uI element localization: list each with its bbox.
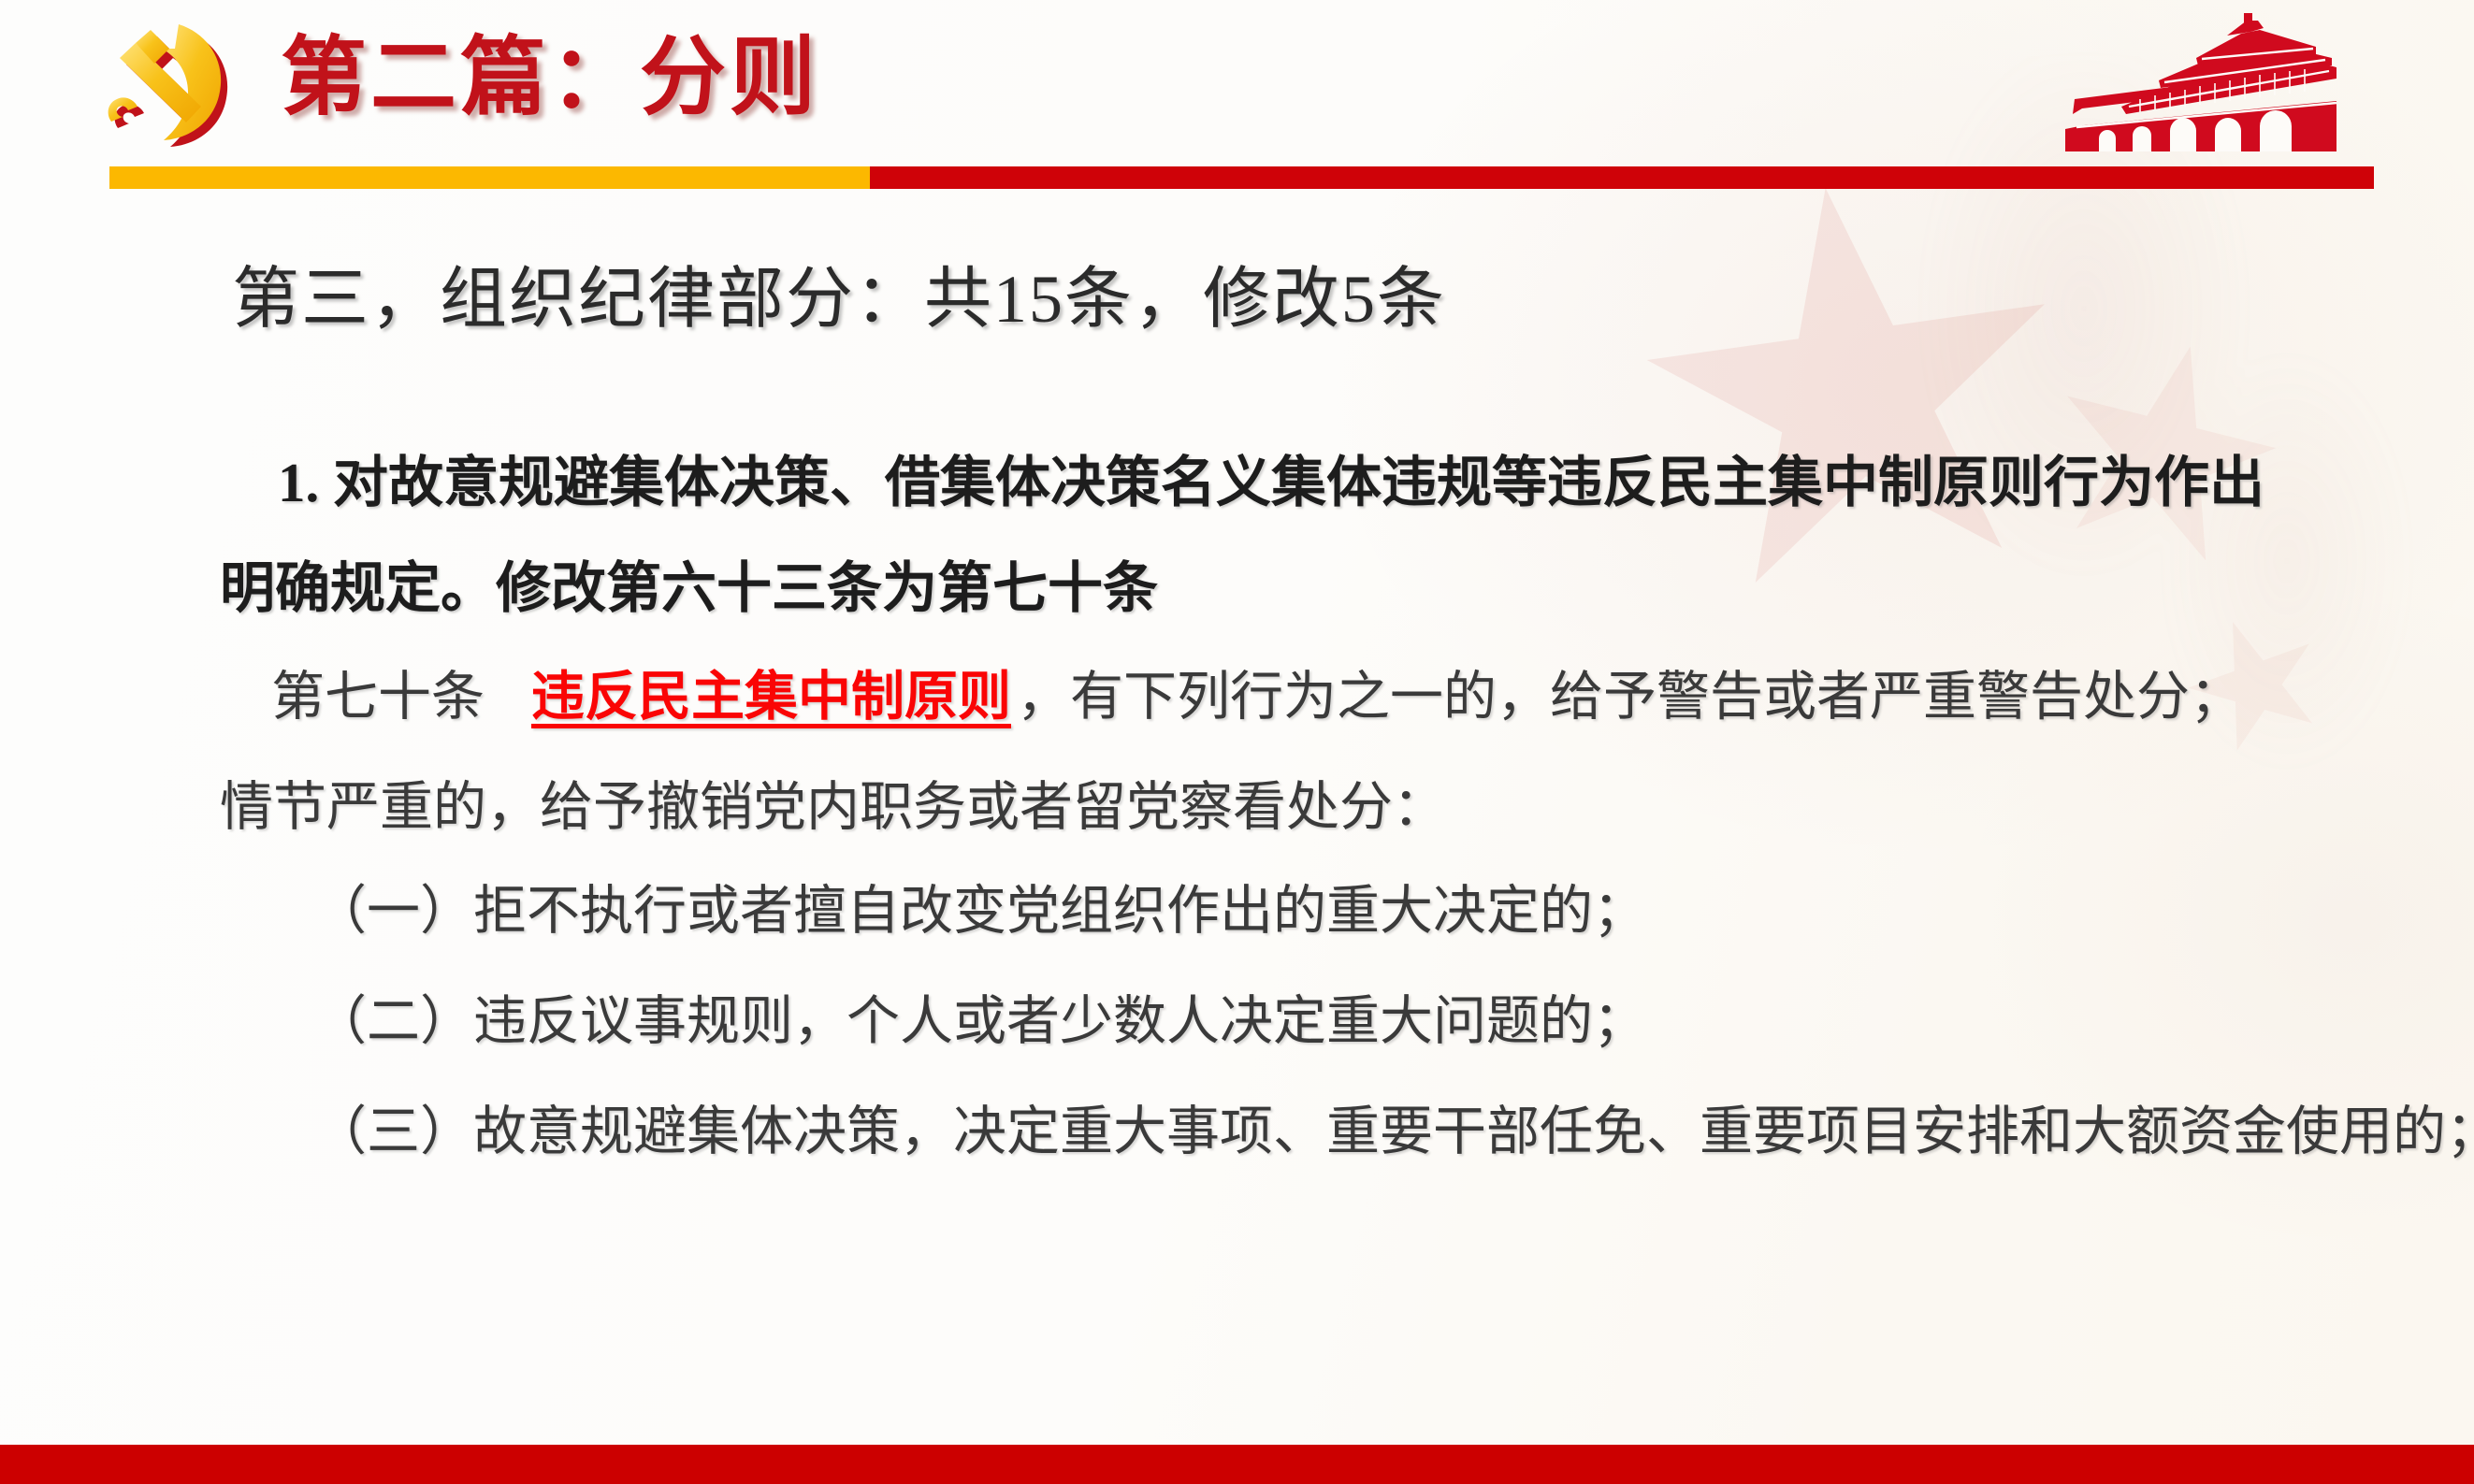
party-emblem-icon: [89, 17, 239, 148]
slide-header: 第二篇：分则: [0, 0, 2474, 201]
paragraph-item-1: 1. 对故意规避集体决策、借集体决策名义集体违规等违反民主集中制原则行为作出明确…: [220, 430, 2278, 641]
clause-list: （一）拒不执行或者擅自改变党组织作出的重大决定的； （二）违反议事规则，个人或者…: [220, 856, 2334, 1187]
article-paragraph: 第七十条违反民主集中制原则，有下列行为之一的，给予警告或者严重警告处分；情节严重…: [220, 641, 2278, 862]
footer-bar: [0, 1445, 2474, 1484]
tiananmen-gate-icon: [2028, 9, 2374, 173]
article-highlight-text: 违反民主集中制原则: [526, 667, 1017, 727]
article-label: 第七十条: [271, 667, 485, 727]
divider-red-segment: [870, 166, 2374, 189]
section-heading: 第三，组织纪律部分：共15条，修改5条: [232, 243, 1446, 341]
header-divider: [109, 166, 2374, 189]
list-item: （一）拒不执行或者擅自改变党组织作出的重大决定的；: [220, 856, 2334, 966]
divider-gold-segment: [109, 166, 870, 189]
slide-title: 第二篇：分则: [281, 7, 819, 132]
article-rest-text: ，有下列行为之一的，给予警告或者严重警告处分；情节严重的，给予撤销党内职务或者留…: [220, 667, 2243, 837]
paragraph-block: 1. 对故意规避集体决策、借集体决策名义集体违规等违反民主集中制原则行为作出明确…: [220, 430, 2278, 862]
slide-canvas: ★ ★ ★: [0, 0, 2474, 1484]
list-item: （二）违反议事规则，个人或者少数人决定重大问题的；: [220, 966, 2334, 1076]
list-item: （三）故意规避集体决策，决定重大事项、重要干部任免、重要项目安排和大额资金使用的…: [220, 1076, 2334, 1187]
